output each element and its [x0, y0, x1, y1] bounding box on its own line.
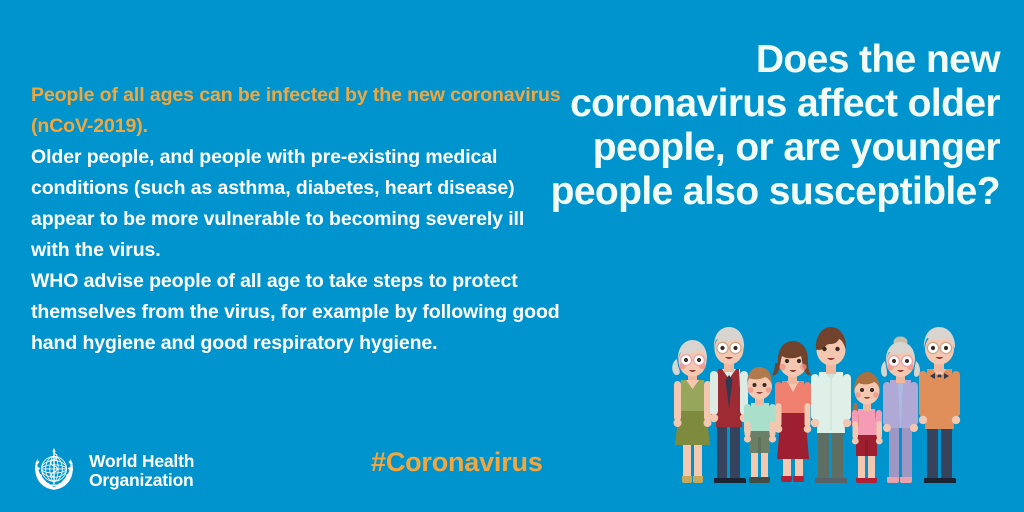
who-wordmark: World Health Organization: [89, 452, 194, 491]
family-group-illustration: [650, 325, 1010, 500]
figure-elderly-woman-2: [881, 337, 920, 484]
figure-boy: [744, 367, 776, 483]
figure-elderly-man-1: [710, 327, 748, 483]
who-wordmark-line-2: Organization: [89, 471, 194, 491]
who-logo: World Health Organization: [28, 445, 194, 497]
hashtag-coronavirus: #Coronavirus: [371, 447, 543, 478]
who-wordmark-line-1: World Health: [89, 452, 194, 472]
body-copy-block: People of all ages can be infected by th…: [31, 80, 561, 359]
figure-elderly-woman-1: [672, 340, 711, 483]
figure-adult-man: [811, 327, 851, 483]
who-emblem-icon: [28, 445, 80, 497]
body-paragraph-intro: People of all ages can be infected by th…: [31, 80, 561, 142]
headline-question: Does the new coronavirus affect older pe…: [540, 38, 1000, 214]
body-paragraph-vulnerable: Older people, and people with pre-existi…: [31, 142, 561, 266]
figure-adult-woman: [772, 341, 811, 482]
figure-elderly-man-2: [919, 327, 960, 483]
figure-girl: [852, 372, 883, 483]
body-paragraph-advice: WHO advise people of all age to take ste…: [31, 266, 561, 359]
who-coronavirus-infographic: Does the new coronavirus affect older pe…: [0, 0, 1024, 512]
